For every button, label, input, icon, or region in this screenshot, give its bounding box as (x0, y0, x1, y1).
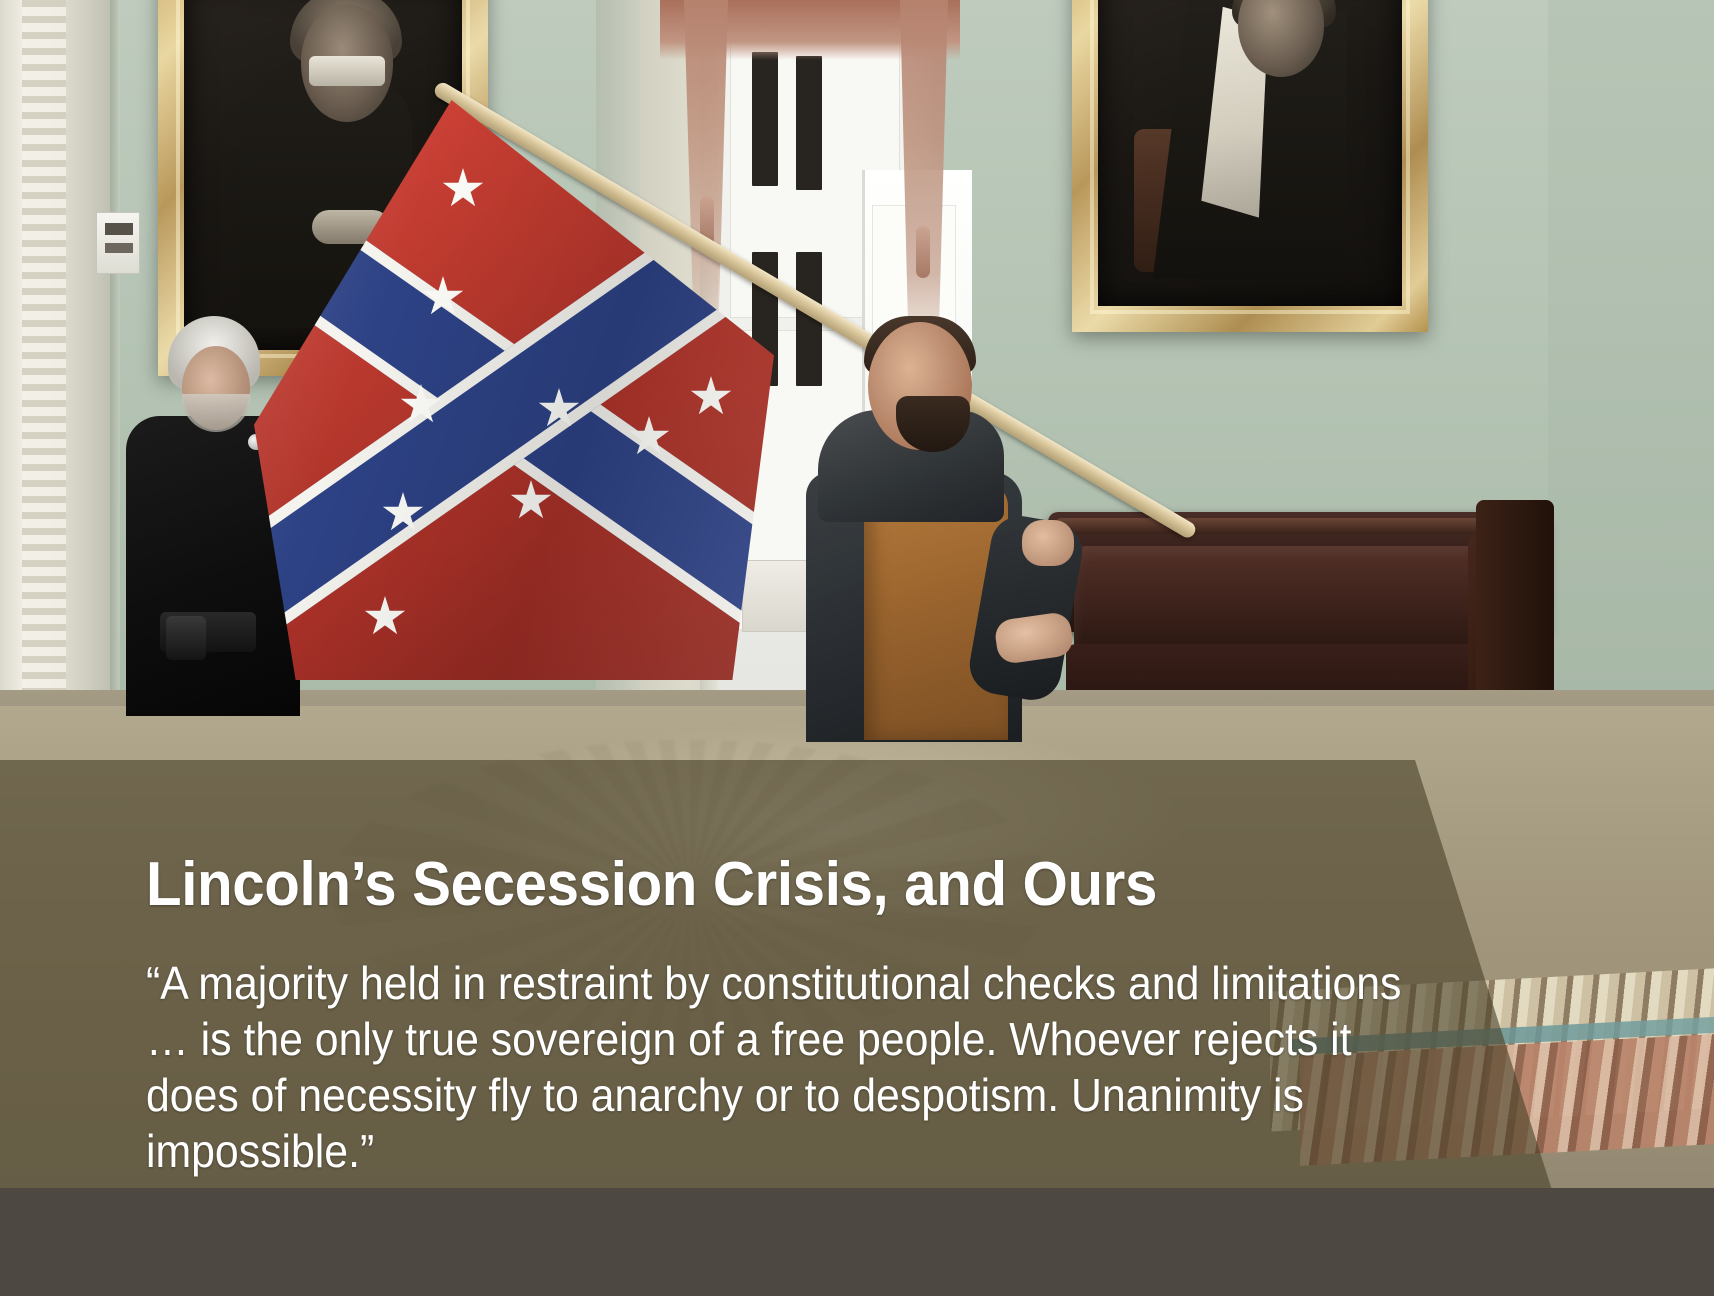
slide-body: “A majority held in restraint by constit… (146, 955, 1374, 1179)
slide-body-line: does of necessity fly to anarchy or to d… (146, 1067, 1374, 1123)
man-left-pouch (166, 616, 206, 660)
light-switch-plate (96, 212, 140, 274)
drapery-tassel-right (916, 226, 930, 278)
portrait-frame-right (1072, 0, 1428, 332)
wall-right (1548, 0, 1714, 760)
door-glazing-bar-2 (796, 56, 822, 190)
man-flag-carrier (800, 322, 1060, 742)
presentation-slide: Lincoln’s Secession Crisis, and Ours “A … (0, 0, 1714, 1296)
sofa-back-cushion (1074, 546, 1526, 656)
portrait-canvas-right (1098, 0, 1402, 306)
pilaster-molding (0, 0, 118, 730)
slide-body-line: “A majority held in restraint by constit… (146, 955, 1374, 1011)
bottom-bar (0, 1188, 1714, 1296)
pilaster-edge (110, 0, 120, 730)
door-glazing-bar-1 (752, 52, 778, 186)
slide-title: Lincoln’s Secession Crisis, and Ours (146, 852, 1387, 917)
slide-body-line: … is the only true sovereign of a free p… (146, 1011, 1374, 1067)
slide-body-line: impossible.” (146, 1123, 1374, 1179)
slide-text-block: Lincoln’s Secession Crisis, and Ours “A … (146, 852, 1466, 1180)
portrait-figure-collar (309, 56, 385, 86)
man-hand-upper (1022, 520, 1074, 566)
sofa-top-rail (1054, 518, 1542, 534)
